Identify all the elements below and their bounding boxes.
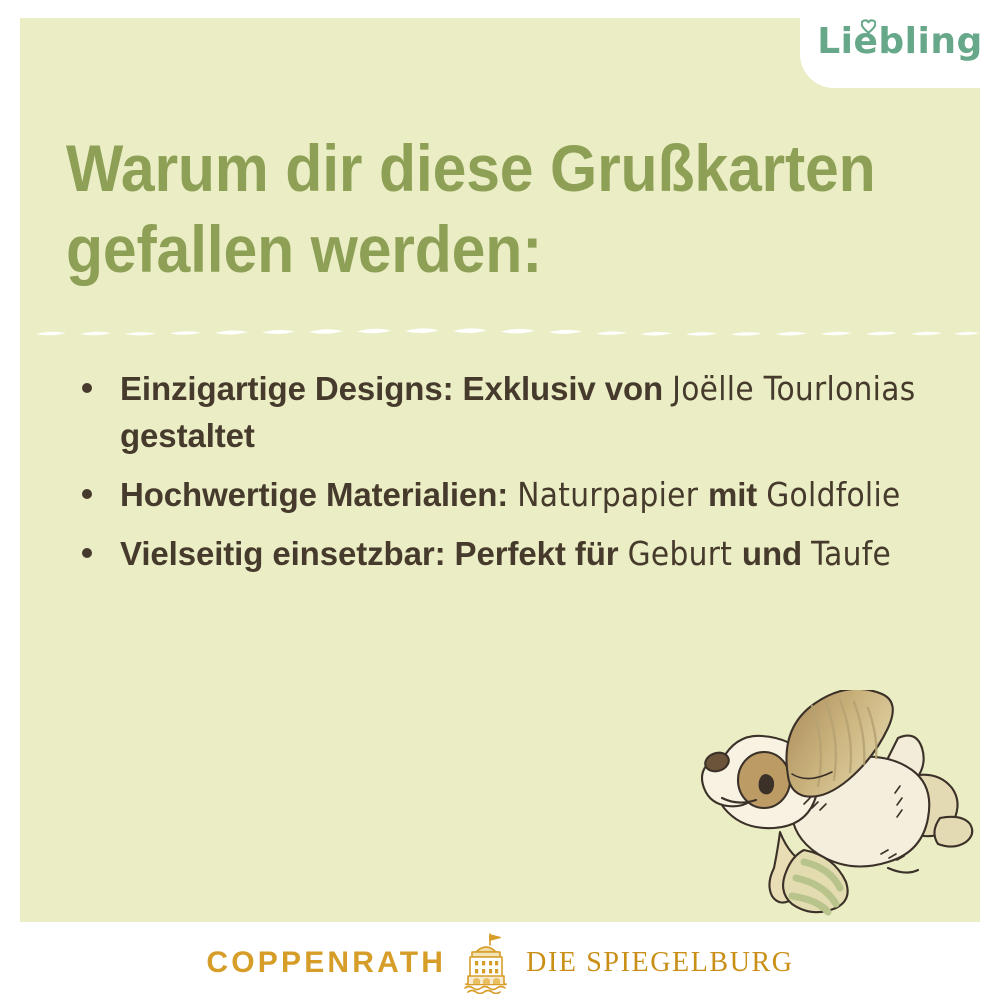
castle-building-icon (460, 932, 512, 994)
bullet-dot-icon (82, 548, 92, 558)
brand-coppenrath: COPPENRATH (206, 946, 446, 980)
list-item-hand: Joëlle Tourlonias (672, 369, 915, 408)
page-title-line-1: Warum dir diese Grußkarten (66, 128, 876, 209)
list-item-strong: Hochwertige Materialien: (120, 476, 517, 513)
list-item-hand: Naturpapier (517, 475, 708, 514)
bullet-dot-icon (82, 383, 92, 393)
benefits-list: Einzigartige Designs: Exklusiv von Joëll… (66, 366, 956, 589)
list-item-strong-2: gestaltet (120, 417, 255, 454)
brand-spiegelburg: DIE SPIEGELBURG (526, 947, 793, 979)
list-item-strong-2: mit (708, 476, 766, 513)
list-item-strong: Einzigartige Designs: Exklusiv von (120, 370, 672, 407)
poster-canvas: Warum dir diese Grußkarten gefallen werd… (0, 0, 1000, 1000)
list-item-strong-2: und (742, 535, 811, 572)
list-item-hand: Geburt (628, 534, 742, 573)
bullet-dot-icon (82, 489, 92, 499)
list-item-hand-2: Taufe (811, 534, 891, 573)
list-item-hand-2: Goldfolie (766, 475, 900, 514)
dog-tail (888, 868, 918, 873)
list-item-strong: Vielseitig einsetzbar: Perfekt für (120, 535, 628, 572)
dog-rear-foot (934, 817, 972, 847)
page-title: Warum dir diese Grußkarten gefallen werd… (66, 128, 876, 289)
badge-liebling: Liebling (800, 0, 1000, 88)
badge-label: Liebling (817, 24, 983, 64)
list-item: Vielseitig einsetzbar: Perfekt für Gebur… (66, 531, 956, 578)
list-item: Einzigartige Designs: Exklusiv von Joëll… (66, 366, 956, 460)
plush-dog-illustration (692, 690, 980, 922)
footer-logo: COPPENRATH (0, 925, 1000, 1000)
list-item: Hochwertige Materialien: Naturpapier mit… (66, 472, 956, 519)
dashed-divider (28, 323, 980, 339)
page-title-line-2: gefallen werden: (66, 209, 876, 290)
main-panel: Warum dir diese Grußkarten gefallen werd… (20, 18, 980, 922)
